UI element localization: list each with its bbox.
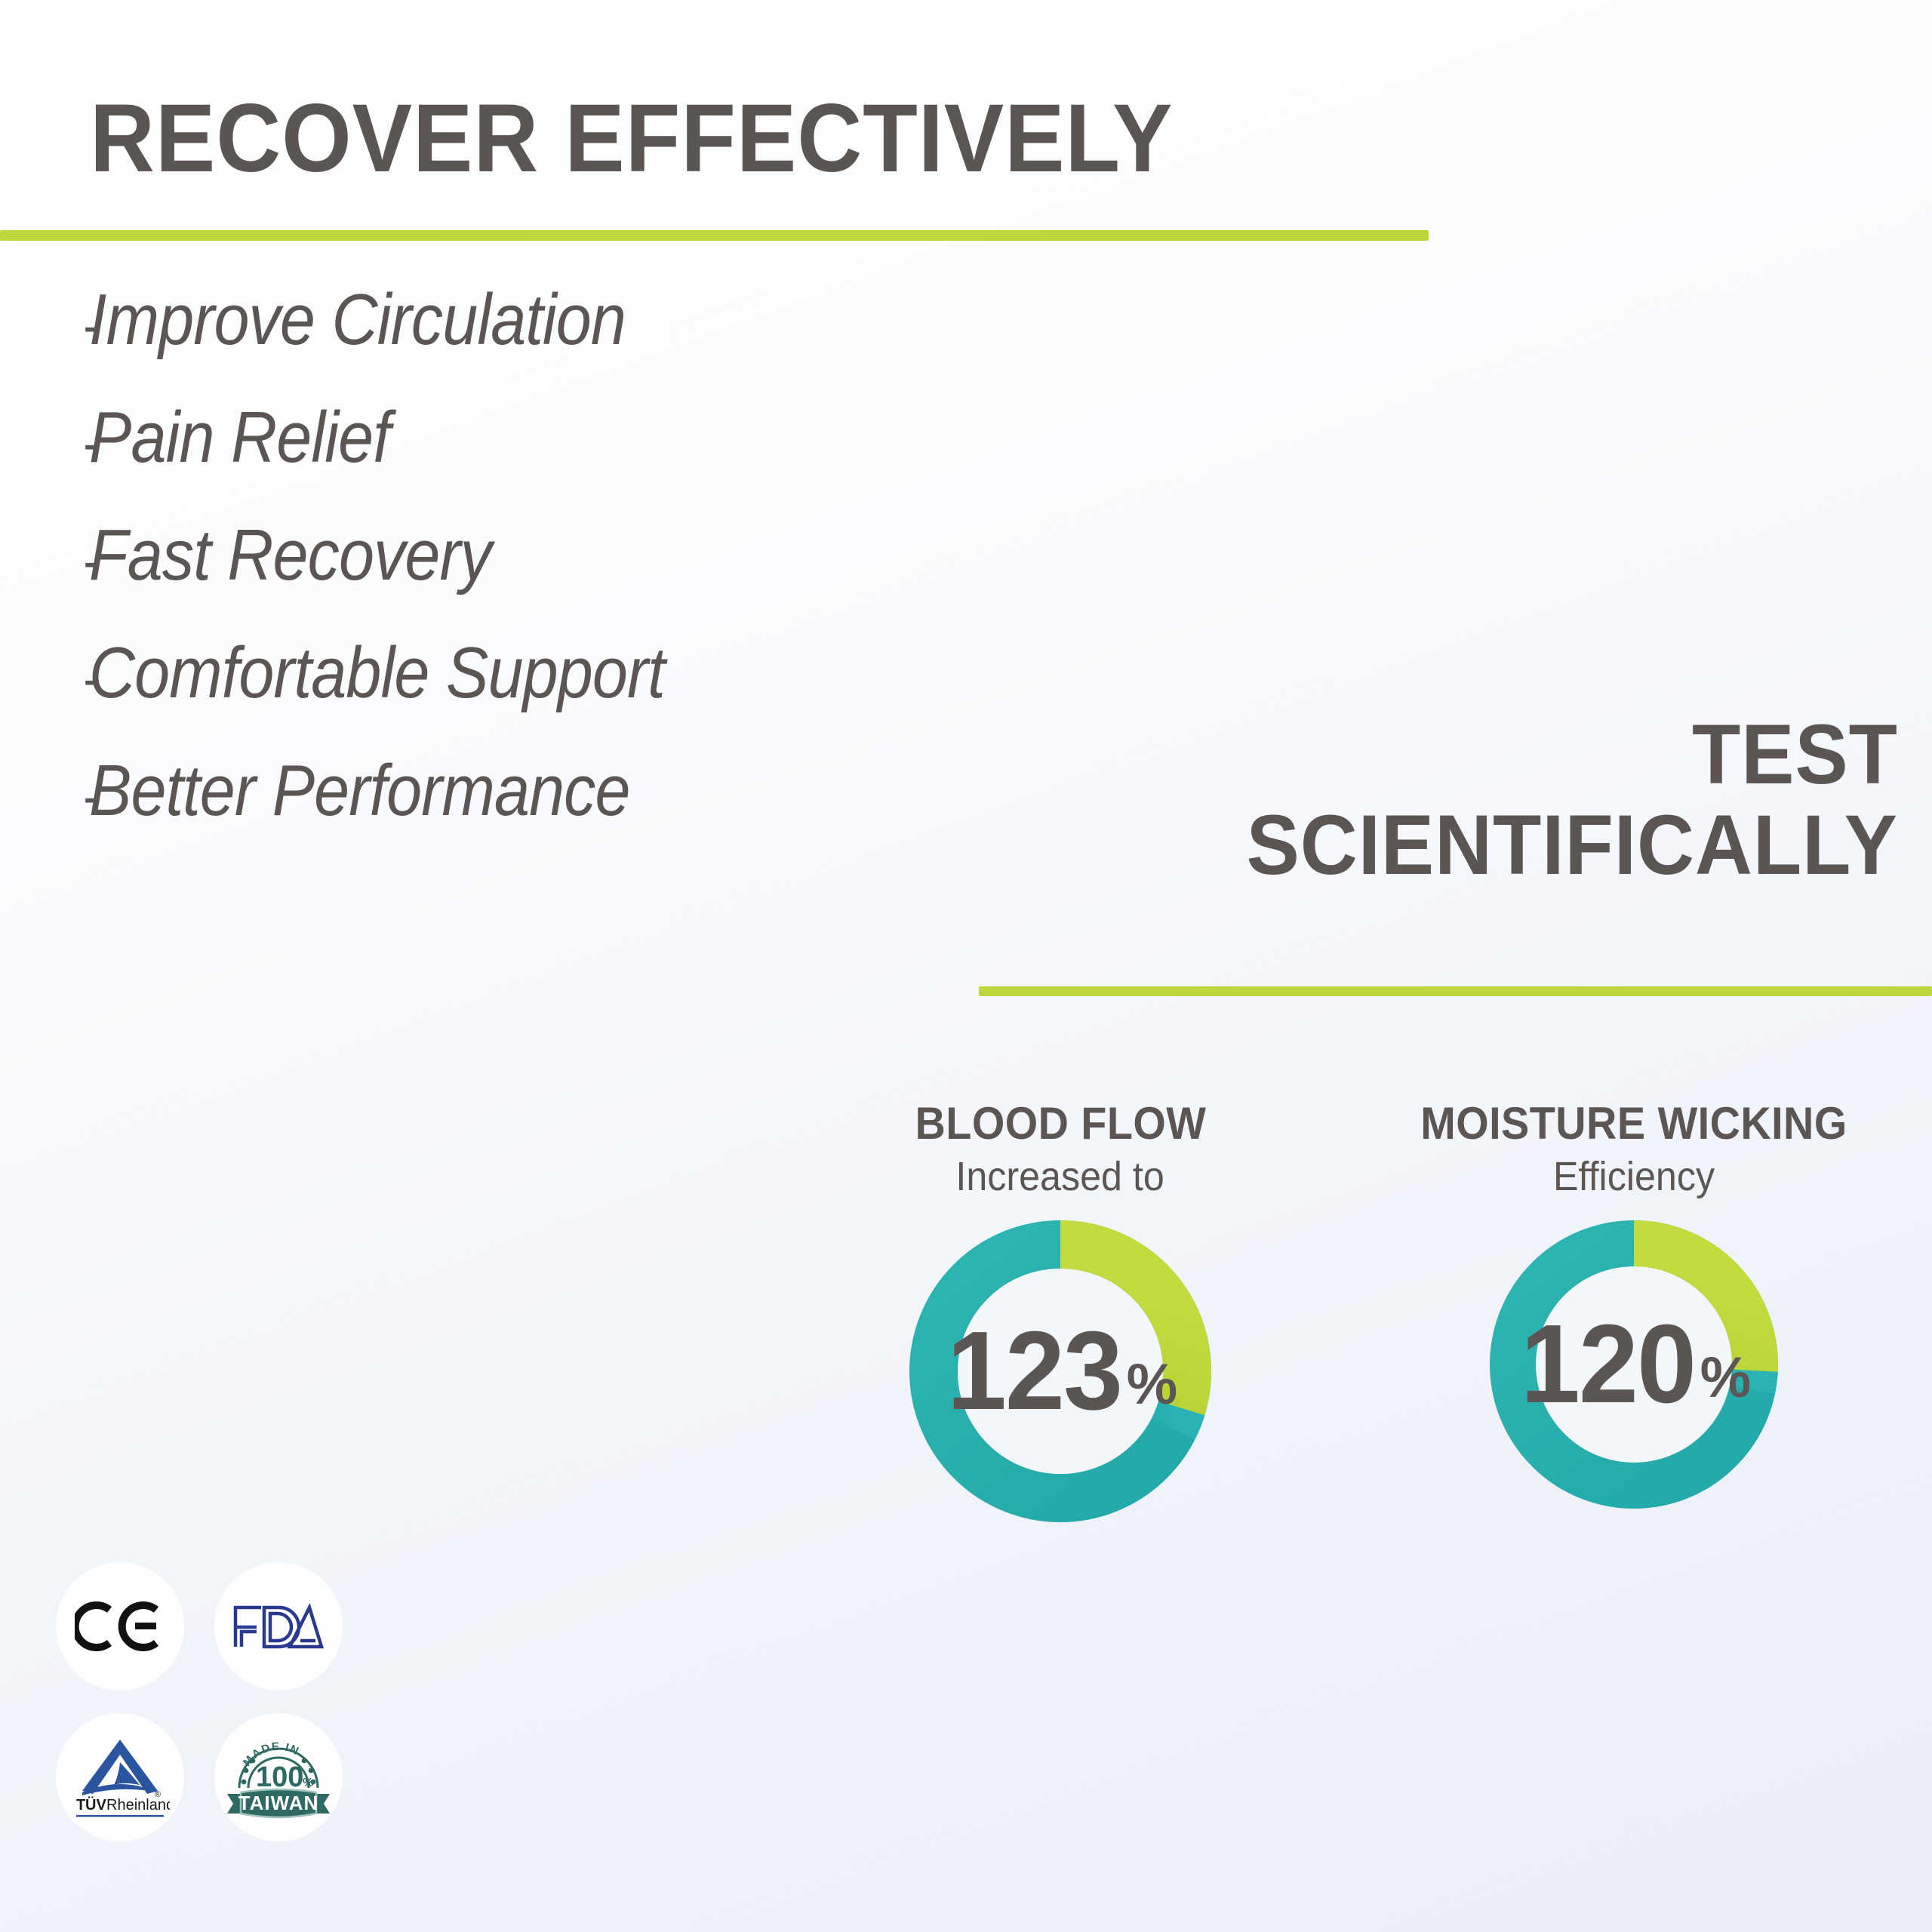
list-item: - Pain Relief (0, 382, 1207, 500)
donut-chart-blood-flow: 123 % (909, 1220, 1211, 1522)
donut-unit: % (1127, 1356, 1178, 1414)
donut-value: 123 (947, 1315, 1121, 1427)
bullet-dash-icon: - (0, 741, 89, 853)
donut-value: 120 (1521, 1309, 1695, 1420)
benefit-label: Comfortable Support (89, 617, 665, 729)
bullet-dash-icon: - (0, 623, 89, 735)
list-item: - Improve Circulation (0, 264, 1207, 382)
made-in-taiwan-mark-icon: MADE IN 100 % TAIWAN (226, 1729, 331, 1826)
svg-text:%: % (303, 1777, 313, 1789)
benefit-label: Better Performance (89, 735, 630, 847)
science-title: TEST SCIENTIFICALLY (1010, 709, 1932, 891)
science-title-line1: TEST (1010, 709, 1898, 800)
bullet-dash-icon: - (0, 388, 89, 500)
stat-moisture-wicking: MOISTURE WICKING Efficiency (1370, 1098, 1898, 1522)
stat-subtitle: Efficiency (1553, 1149, 1715, 1204)
title-underline-rule (0, 230, 1429, 241)
donut-center-label: 123 % (909, 1220, 1211, 1522)
svg-text:®: ® (155, 1790, 161, 1799)
svg-text:Rheinland: Rheinland (106, 1797, 170, 1814)
svg-text:T: T (76, 1797, 85, 1814)
science-title-line2: SCIENTIFICALLY (1010, 800, 1898, 891)
science-underline-rule (979, 986, 1932, 996)
stats-row: BLOOD FLOW Increased to (796, 1098, 1898, 1522)
list-item: - Fast Recovery (0, 500, 1207, 617)
badge-row: T ÜV Rheinland ® (56, 1713, 403, 1841)
stat-title: MOISTURE WICKING (1420, 1098, 1847, 1149)
badge-made-in-taiwan: MADE IN 100 % TAIWAN (214, 1713, 343, 1841)
badge-tuv-rheinland: T ÜV Rheinland ® (56, 1713, 184, 1841)
infographic-page: RECOVER EFFECTIVELY - Improve Circulatio… (0, 0, 1932, 1932)
stat-blood-flow: BLOOD FLOW Increased to (796, 1098, 1324, 1522)
fda-mark-icon (231, 1601, 326, 1651)
donut-chart-moisture-wicking: 120 % (1490, 1220, 1778, 1509)
benefit-label: Fast Recovery (89, 500, 491, 611)
donut-unit: % (1700, 1349, 1752, 1407)
certification-badges: T ÜV Rheinland ® (56, 1562, 403, 1864)
tuv-rheinland-mark-icon: T ÜV Rheinland ® (70, 1732, 170, 1823)
badge-fda (214, 1562, 343, 1690)
svg-text:ÜV: ÜV (85, 1796, 106, 1814)
bullet-dash-icon: - (0, 270, 89, 382)
badge-row (56, 1562, 403, 1690)
benefit-label: Pain Relief (89, 382, 390, 494)
donut-center-label: 120 % (1490, 1220, 1778, 1509)
svg-text:TAIWAN: TAIWAN (238, 1792, 319, 1814)
svg-text:100: 100 (256, 1761, 303, 1793)
headline-block: RECOVER EFFECTIVELY (0, 0, 1434, 187)
stat-subtitle: Increased to (956, 1149, 1164, 1204)
page-title: RECOVER EFFECTIVELY (0, 0, 1334, 187)
benefit-label: Improve Circulation (89, 264, 626, 376)
ce-mark-icon (75, 1596, 165, 1657)
bullet-dash-icon: - (0, 506, 89, 617)
badge-ce (56, 1562, 184, 1690)
science-headline-block: TEST SCIENTIFICALLY (951, 709, 1932, 891)
stat-title: BLOOD FLOW (915, 1098, 1206, 1149)
